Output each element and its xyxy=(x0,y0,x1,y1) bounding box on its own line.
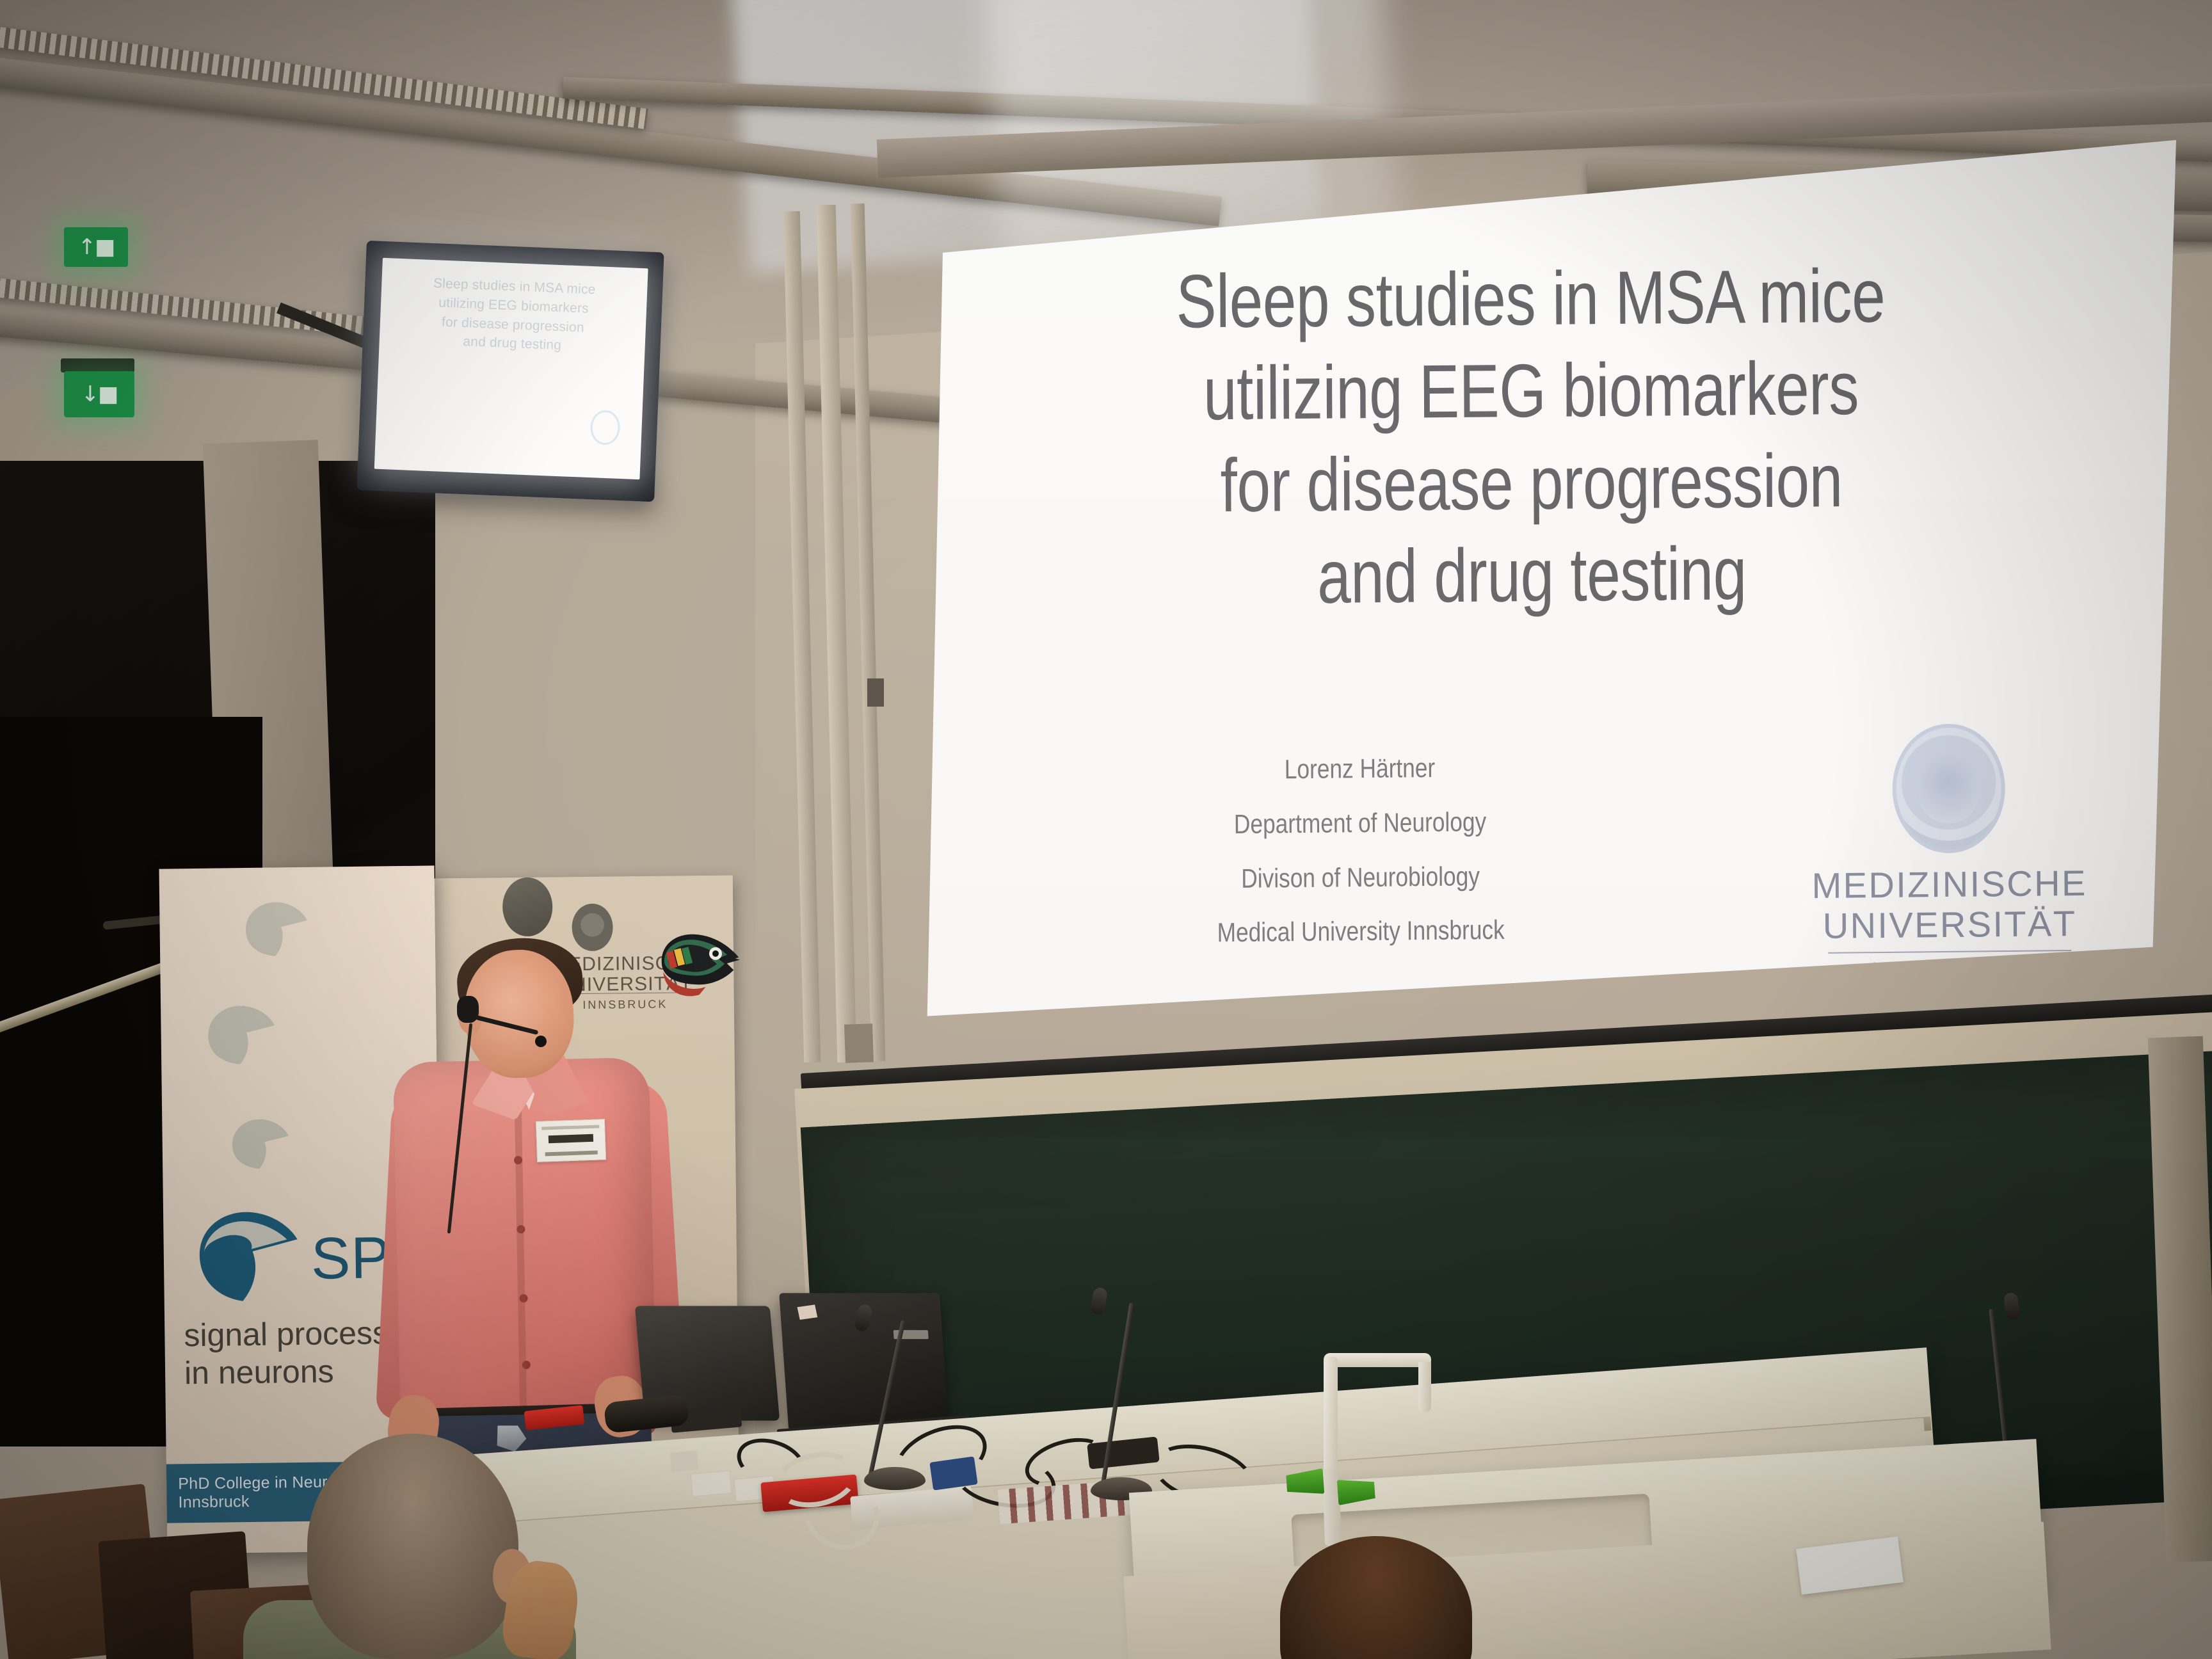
audience-member-1-head xyxy=(307,1434,518,1659)
preview-monitor-seal-icon xyxy=(590,410,621,445)
slide-university-logo: MEDIZINISCHE UNIVERSITÄT INNSBRUCK xyxy=(1801,723,2097,984)
faucet-neck xyxy=(1324,1357,1338,1479)
logo-divider xyxy=(1828,950,2071,954)
gooseneck-microphone-2[interactable] xyxy=(1080,1285,1157,1503)
desk-small-block xyxy=(670,1450,698,1472)
mic-1-base xyxy=(864,1467,926,1490)
logo-line-3: INNSBRUCK xyxy=(1802,956,2097,984)
projection-screen-surface: Sleep studies in MSA mice utilizing EEG … xyxy=(883,125,2176,1034)
logo-line-2: UNIVERSITÄT xyxy=(1802,903,2097,946)
name-badge xyxy=(536,1119,606,1162)
preview-monitor-screen: Sleep studies in MSA mice utilizing EEG … xyxy=(374,258,648,479)
preview-monitor-title: Sleep studies in MSA mice utilizing EEG … xyxy=(379,272,647,359)
spin-watermark-3-icon xyxy=(223,1110,294,1182)
preview-monitor: Sleep studies in MSA mice utilizing EEG … xyxy=(357,241,664,502)
lecture-hall-scene: ↑■ ↓■ Sleep studies in MSA mice utilizin… xyxy=(0,0,2212,1659)
badge-line-top xyxy=(541,1125,599,1130)
slide-institution: Medical University Innsbruck xyxy=(1092,902,1630,961)
wall-outlet-box xyxy=(844,1023,874,1062)
banner-university-seal-icon xyxy=(572,904,613,952)
mic-3-capsule xyxy=(2003,1292,2020,1320)
falcon-emblem-icon xyxy=(649,925,746,1003)
faucet-arm xyxy=(1324,1353,1431,1367)
university-seal-icon xyxy=(1892,723,2005,854)
laptop-sticker xyxy=(797,1304,818,1320)
faucet-spout xyxy=(1418,1362,1431,1412)
gooseneck-microphone-1[interactable] xyxy=(851,1299,928,1491)
presentation-slide: Sleep studies in MSA mice utilizing EEG … xyxy=(878,120,2181,1039)
projection-screen: Sleep studies in MSA mice utilizing EEG … xyxy=(883,125,2212,1086)
banner-seal-top-icon xyxy=(502,878,553,937)
logo-line-1: MEDIZINISCHE xyxy=(1802,863,2096,906)
mic-2-capsule xyxy=(1090,1287,1108,1316)
exit-running-man-icon: ↑■ xyxy=(78,236,115,258)
spin-watermark-1-icon xyxy=(236,893,314,970)
mic-2-gooseneck xyxy=(1100,1302,1134,1487)
spin-watermark-2-icon xyxy=(198,995,282,1080)
slide-department: Department of Neurology xyxy=(1091,794,1630,853)
exit-sign-lower: ↓■ xyxy=(64,371,134,417)
slide-title: Sleep studies in MSA mice utilizing EEG … xyxy=(999,249,2064,626)
desk-outlet-1[interactable] xyxy=(691,1470,732,1496)
mic-1-gooseneck xyxy=(868,1320,906,1477)
badge-line-bottom xyxy=(545,1151,598,1157)
exit-arrow-down-icon: ↓■ xyxy=(81,383,118,405)
exit-sign-housing xyxy=(61,358,134,373)
slide-author-name: Lorenz Härtner xyxy=(1091,739,1629,799)
headset-microphone-capsule xyxy=(535,1036,547,1047)
slide-division: Divison of Neurobiology xyxy=(1091,848,1630,908)
exit-sign-upper: ↑■ xyxy=(64,227,128,267)
badge-line-middle xyxy=(549,1134,593,1143)
spin-logo-icon xyxy=(188,1200,304,1317)
mic-1-capsule xyxy=(854,1303,873,1333)
slide-author-block: Lorenz Härtner Department of Neurology D… xyxy=(1039,739,1681,962)
wall-fixture xyxy=(867,678,884,707)
